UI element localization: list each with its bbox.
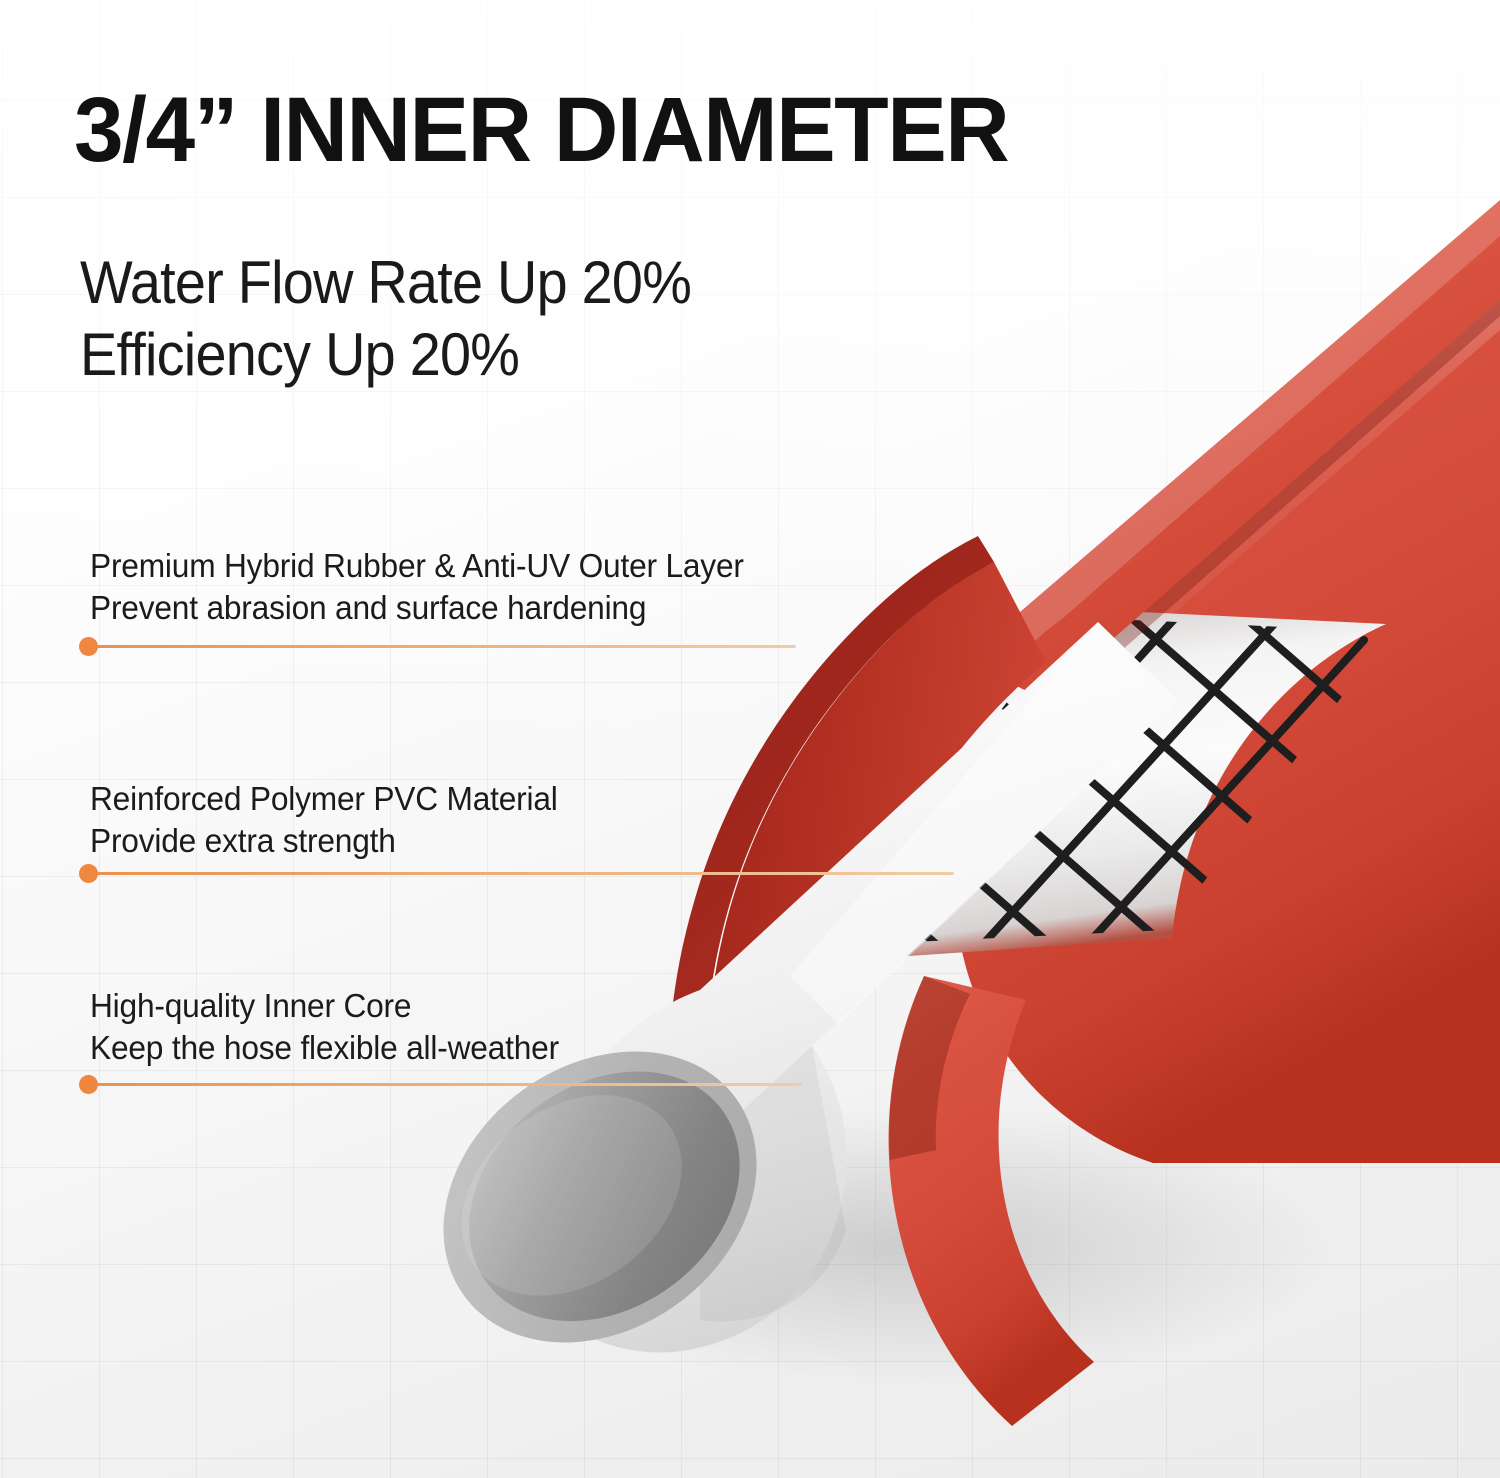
callout-outer-layer: Premium Hybrid Rubber & Anti-UV Outer La… [90, 545, 771, 629]
leader-line-reinforcement [92, 872, 954, 875]
leader-dot-outer-layer [79, 637, 98, 656]
callout-reinforcement-subtitle: Provide extra strength [90, 820, 558, 862]
callout-reinforcement: Reinforced Polymer PVC Material Provide … [90, 778, 577, 862]
callout-outer-layer-title: Premium Hybrid Rubber & Anti-UV Outer La… [90, 545, 744, 587]
callout-inner-core: High-quality Inner Core Keep the hose fl… [90, 985, 579, 1069]
callout-reinforcement-title: Reinforced Polymer PVC Material [90, 778, 558, 820]
leader-line-outer-layer [92, 645, 796, 648]
leader-dot-reinforcement [79, 864, 98, 883]
leader-line-inner-core [92, 1083, 802, 1086]
background-grid-fade [0, 0, 1500, 1478]
subtitle-line-2: Efficiency Up 20% [80, 319, 691, 391]
page-title: 3/4” INNER DIAMETER [74, 82, 1008, 178]
callout-inner-core-subtitle: Keep the hose flexible all-weather [90, 1027, 559, 1069]
product-feature-infographic: 3/4” INNER DIAMETER Water Flow Rate Up 2… [0, 0, 1500, 1478]
page-subtitle: Water Flow Rate Up 20% Efficiency Up 20% [80, 247, 691, 391]
callout-outer-layer-subtitle: Prevent abrasion and surface hardening [90, 587, 744, 629]
subtitle-line-1: Water Flow Rate Up 20% [80, 247, 691, 319]
leader-dot-inner-core [79, 1075, 98, 1094]
callout-inner-core-title: High-quality Inner Core [90, 985, 559, 1027]
